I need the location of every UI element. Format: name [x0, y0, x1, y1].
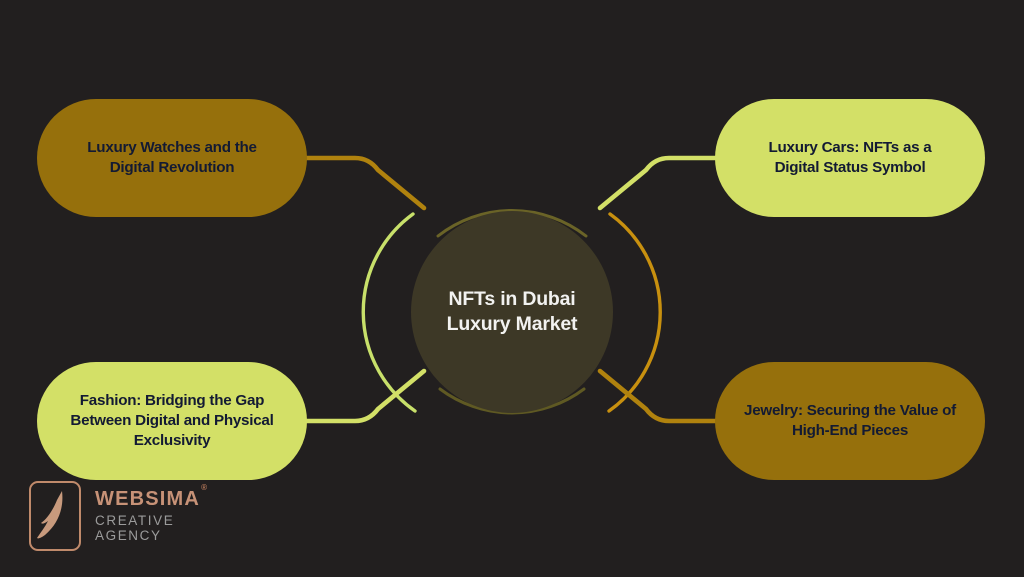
branch-node-luxury-watches[interactable]: Luxury Watches and the Digital Revolutio… — [37, 99, 307, 217]
logo-tagline: CREATIVE AGENCY — [95, 513, 207, 543]
branch-label-luxury-cars: Luxury Cars: NFTs as a Digital Status Sy… — [768, 138, 931, 178]
center-node[interactable]: NFTs in Dubai Luxury Market — [411, 211, 613, 413]
ring-arc-left — [363, 214, 415, 411]
center-node-label: NFTs in Dubai Luxury Market — [447, 287, 578, 337]
branch-node-fashion[interactable]: Fashion: Bridging the Gap Between Digita… — [37, 362, 307, 480]
branch-node-jewelry[interactable]: Jewelry: Securing the Value of High-End … — [715, 362, 985, 480]
logo-word-text: WEBSIMA — [95, 488, 200, 510]
logo-wordmark: WEBSIMA® — [95, 489, 207, 509]
connector-luxury-watches — [307, 158, 424, 208]
branch-label-luxury-watches: Luxury Watches and the Digital Revolutio… — [87, 138, 256, 178]
connector-fashion — [307, 371, 424, 421]
connector-jewelry — [600, 371, 717, 421]
branch-label-fashion: Fashion: Bridging the Gap Between Digita… — [70, 391, 273, 452]
websima-logo[interactable]: WEBSIMA® CREATIVE AGENCY — [29, 481, 207, 551]
connector-luxury-cars — [600, 158, 717, 208]
logo-mark-icon — [29, 481, 81, 551]
logo-text-block: WEBSIMA® CREATIVE AGENCY — [95, 489, 207, 543]
ring-arc-right — [609, 214, 660, 411]
mindmap-canvas: NFTs in Dubai Luxury Market Luxury Watch… — [0, 0, 1024, 577]
registered-mark-icon: ® — [201, 483, 208, 492]
branch-node-luxury-cars[interactable]: Luxury Cars: NFTs as a Digital Status Sy… — [715, 99, 985, 217]
branch-label-jewelry: Jewelry: Securing the Value of High-End … — [744, 401, 956, 441]
